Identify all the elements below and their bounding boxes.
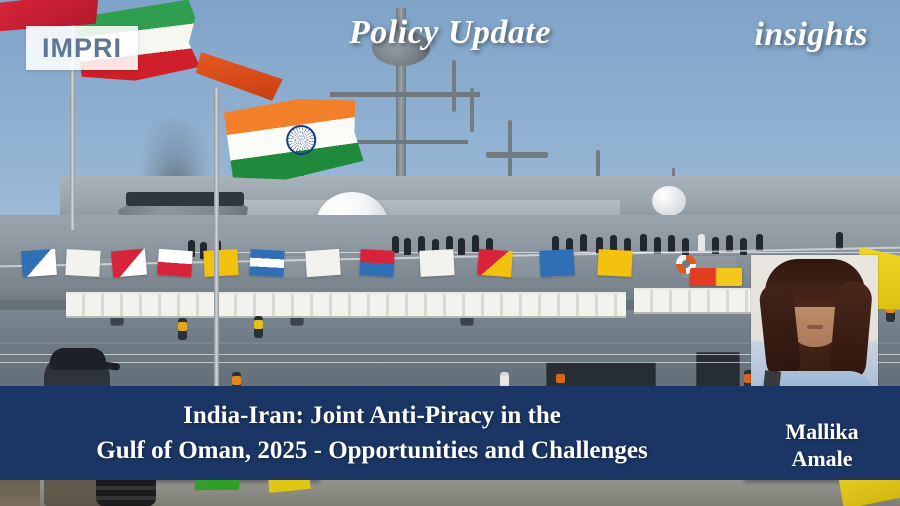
signal-flag	[111, 249, 147, 278]
signal-flag	[477, 249, 513, 277]
safety-vest-icon	[254, 320, 263, 329]
crew-member	[756, 234, 763, 251]
crew-member	[404, 238, 411, 255]
signal-flag	[157, 249, 193, 277]
flag-pole	[214, 88, 219, 408]
signal-flag	[203, 249, 238, 277]
page-title-line1: India-Iran: Joint Anti-Piracy in the	[0, 398, 744, 433]
author-mouth	[807, 325, 823, 329]
author-photo	[751, 255, 878, 407]
crew-member	[740, 238, 747, 255]
mast-platform	[486, 152, 548, 158]
author-hair-right	[829, 280, 874, 383]
deck-rail-covers	[634, 288, 754, 314]
signal-flag	[21, 249, 57, 277]
funnel-cap	[126, 192, 244, 206]
page-title-line2: Gulf of Oman, 2025 - Opportunities and C…	[0, 433, 744, 468]
radar-dome-small-icon	[652, 186, 686, 216]
author-first-name: Mallika	[744, 418, 900, 445]
antenna-icon	[470, 88, 474, 132]
crew-member	[668, 235, 675, 252]
signal-flag	[305, 249, 341, 277]
ashoka-chakra-icon	[284, 123, 318, 157]
signal-flag	[419, 249, 454, 277]
signal-flag	[249, 249, 284, 277]
crew-member	[580, 234, 587, 251]
mast-crossbar	[330, 92, 480, 97]
deck-rail-covers	[66, 292, 626, 318]
insights-label: insights	[754, 16, 868, 54]
safety-vest-icon	[178, 322, 187, 331]
crew-member-officer	[698, 234, 705, 251]
author-last-name: Amale	[744, 445, 900, 472]
safety-vest-icon	[556, 374, 565, 383]
antenna-icon	[508, 120, 512, 182]
signal-flag	[65, 249, 100, 277]
mast-crossbar	[356, 140, 468, 144]
signal-flag	[539, 249, 574, 277]
safety-vest-icon	[232, 376, 241, 385]
safety-vest-icon	[500, 376, 509, 385]
author-name: Mallika Amale	[744, 418, 900, 472]
antenna-icon	[452, 60, 456, 112]
page-title: India-Iran: Joint Anti-Piracy in the Gul…	[0, 398, 744, 468]
crew-member	[640, 234, 647, 251]
ship-crest-icon	[690, 268, 742, 286]
policy-update-poster: BEST SHIP 2023-24	[0, 0, 900, 506]
crew-member	[836, 232, 843, 249]
signal-flag	[597, 249, 632, 277]
signal-flag	[359, 249, 394, 277]
crew-member	[458, 238, 465, 255]
